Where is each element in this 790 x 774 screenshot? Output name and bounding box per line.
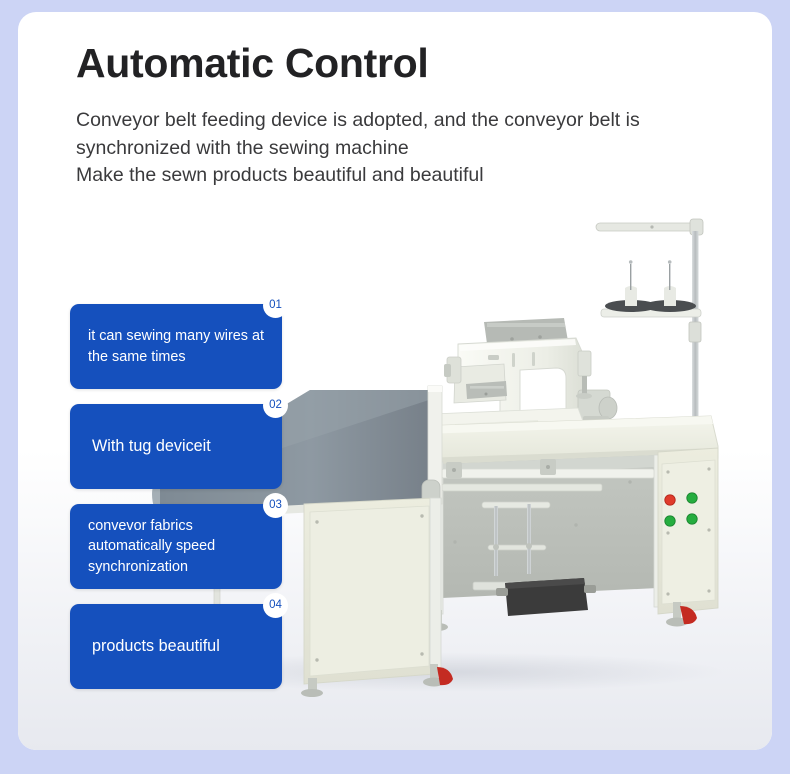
feature-card-text-03: convevor fabrics automatically speed syn… xyxy=(70,516,282,577)
feature-number-badge-04: 04 xyxy=(263,593,288,618)
control-cabinet xyxy=(658,448,718,614)
feature-card-list: 01 it can sewing many wires at the same … xyxy=(70,304,290,704)
red-indicator-button xyxy=(665,495,675,505)
feature-number-badge-03: 03 xyxy=(263,493,288,518)
feature-card-text-02: With tug deviceit xyxy=(70,435,225,458)
feature-card-text-04: products beautiful xyxy=(70,635,234,658)
feature-number-badge-02: 02 xyxy=(263,393,288,418)
green-indicator-button-3 xyxy=(687,514,697,524)
feature-card-04[interactable]: 04 products beautiful xyxy=(70,604,282,689)
feature-card-02[interactable]: 02 With tug deviceit xyxy=(70,404,282,489)
green-indicator-button-2 xyxy=(665,516,675,526)
green-indicator-button-1 xyxy=(687,493,697,503)
feature-card-03[interactable]: 03 convevor fabrics automatically speed … xyxy=(70,504,282,589)
feature-card-text-01: it can sewing many wires at the same tim… xyxy=(70,326,282,367)
white-content-sheet: Automatic Control Conveyor belt feeding … xyxy=(18,12,772,750)
poster-page: Automatic Control Conveyor belt feeding … xyxy=(0,0,790,774)
feature-card-01[interactable]: 01 it can sewing many wires at the same … xyxy=(70,304,282,389)
feature-number-badge-01: 01 xyxy=(263,293,288,318)
foot-pedal xyxy=(473,578,596,616)
